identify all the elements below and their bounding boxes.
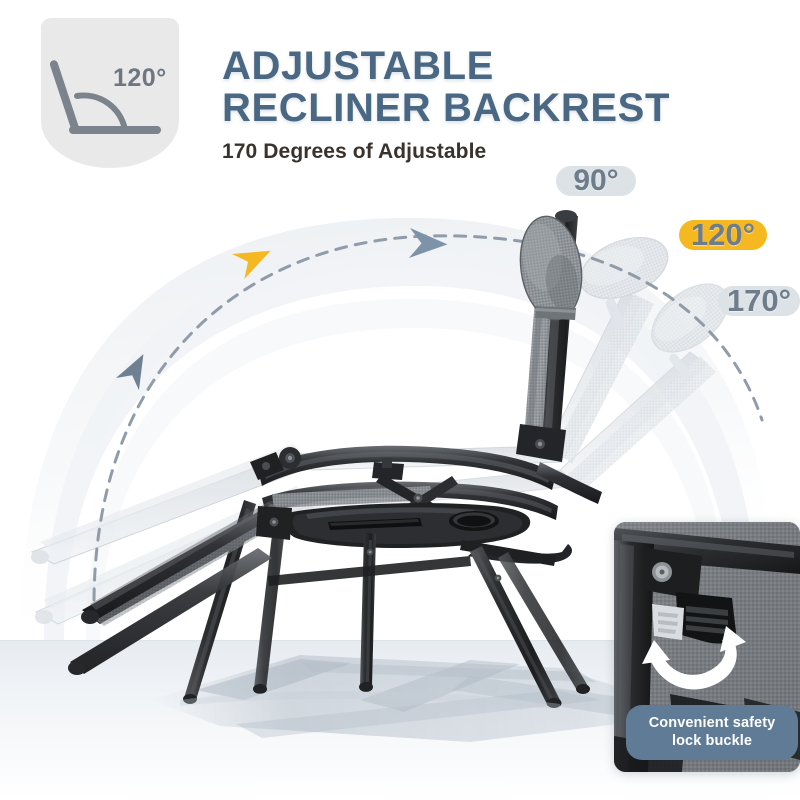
angle-shield-badge: 120° [41,18,179,168]
angle-arc-icon [41,18,179,168]
armrest-front-pivot [279,447,301,469]
angle-badge-90: 90° [556,166,636,196]
angle-badge-120: 120° [679,220,767,250]
inset-caption-line-1: Convenient safety [632,714,792,732]
headline-block: ADJUSTABLE RECLINER BACKREST 170 Degrees… [222,45,782,164]
page-subtitle: 170 Degrees of Adjustable [222,140,782,164]
inset-caption-line-2: lock buckle [632,732,792,750]
side-table-with-cup-holder [286,503,530,548]
safety-lock-inset-panel: Convenient safety lock buckle [614,522,800,772]
product-feature-image: 120° ADJUSTABLE RECLINER BACKREST 170 De… [0,0,800,800]
headrest-strap [535,306,576,320]
inset-caption: Convenient safety lock buckle [626,705,798,760]
title-line-2: RECLINER BACKREST [222,86,670,130]
shield-degrees-label: 120° [113,64,167,93]
title-line-1: ADJUSTABLE [222,44,494,88]
page-title: ADJUSTABLE RECLINER BACKREST [222,45,782,129]
angle-badge-170: 170° [718,286,800,316]
